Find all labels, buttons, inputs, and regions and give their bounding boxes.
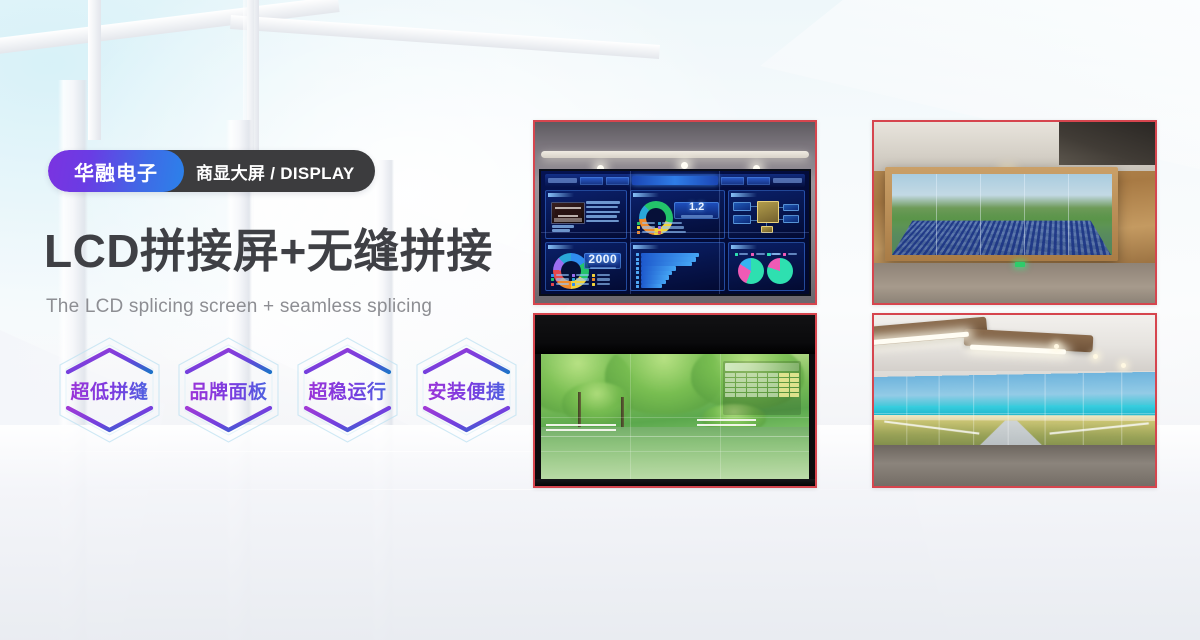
calendar-cell [790,393,800,397]
calendar-cell [758,383,768,387]
legend-item [658,226,687,229]
calendar-cell [779,373,789,377]
legend-item [751,253,765,256]
legend-item [637,222,655,225]
pond-water [541,427,810,479]
legend-item [783,253,797,256]
tree-trunk [621,397,624,429]
promo-banner: 华融电子 商显大屏 / DISPLAY LCD拼接屏+无缝拼接 The LCD … [0,0,1200,640]
flow-node [783,215,799,223]
calendar-overlay [723,361,801,416]
upper-black-bezel [535,315,815,354]
videowall-seam-vertical [1068,174,1069,255]
thumb-detail [554,218,582,222]
dashboard-nav-tab [747,177,770,185]
dashboard-header [545,174,805,187]
legend-item [735,253,749,256]
kpi-panel-count: 2000 [584,253,621,268]
card-text-line [586,215,617,218]
flow-node [783,204,799,212]
calendar-cell [768,378,778,382]
ceiling-beam-vertical-1 [88,0,101,140]
calendar-cell [725,393,735,397]
photo-dashboard-videowall: 1.2 [533,120,817,305]
calendar-cell [736,378,746,382]
videowall-seam-horizontal [541,417,810,418]
card-body: 1.2 [634,200,722,235]
floor [874,263,1155,303]
card-text-line [552,225,574,228]
legend-item [592,283,610,286]
calendar-cell [747,393,757,397]
kpi-value: 1.2 [689,202,704,213]
calendar-cell [790,388,800,392]
subheadline: The LCD splicing screen + seamless splic… [46,296,432,318]
calendar-cell [725,378,735,382]
calendar-cell [768,383,778,387]
ceiling-dark-recess [1059,122,1155,165]
card-body [549,200,622,235]
card-text-line [586,206,618,209]
calendar-cell [779,393,789,397]
dashboard-nav-tab [606,177,629,185]
photo-content: 1.2 [535,122,815,303]
calendar-cell [736,383,746,387]
legend-item [551,278,569,281]
flow-connector [751,220,756,221]
dashboard-grid: 1.2 [545,190,805,291]
legend-item [637,226,655,229]
calendar-cell [736,393,746,397]
dashboard-user-area [773,178,802,183]
flow-connector [751,206,756,207]
feature-label: 品牌面板 [189,377,267,404]
pond-railing [697,419,756,427]
legend-item [767,253,781,256]
calendar-cell [758,388,768,392]
calendar-cell [790,378,800,382]
feature-badge-3: 超稳运行 [288,332,407,448]
ceiling-spotlight [681,162,688,169]
thumb-detail [558,215,578,217]
calendar-cell [736,388,746,392]
photo-content [874,122,1155,303]
legend-item [572,274,590,277]
calendar-cell [779,378,789,382]
pie-chart-right [767,258,793,284]
feature-badge-2: 品牌面板 [169,332,288,448]
feature-list: 超低拼缝 品牌面板 超稳运行 [50,332,526,448]
water-reflection [541,451,810,452]
calendar-cell [779,383,789,387]
exit-sign [1015,262,1025,267]
legend-item [658,222,687,225]
feature-badge-1: 超低拼缝 [50,332,169,448]
dashboard-card-bars [630,242,726,291]
kpi-panel-area: 1.2 [674,202,720,219]
bar-row [636,284,720,289]
calendar-cell [758,393,768,397]
kpi-caption-bar [681,215,713,218]
chart-legend [551,274,610,286]
legend-item [572,283,590,286]
videowall-seam-vertical [936,174,937,255]
brand-badge: 华融电子 商显大屏 / DISPLAY [48,150,375,192]
legend-item [592,278,610,281]
card-body: 2000 [549,252,622,287]
dashboard-title [632,176,718,185]
calendar-cell [768,373,778,377]
calendar-cell [725,383,735,387]
photo-beach-boardwalk-videowall [872,313,1157,488]
calendar-cell [736,373,746,377]
flow-node [733,202,751,211]
dashboard-card-count: 2000 [545,242,626,291]
photo-solar-farm-videowall [872,120,1157,305]
calendar-cell [725,388,735,392]
card-text-line [586,201,620,204]
ceiling-cove-light [541,151,810,158]
calendar-cell [747,378,757,382]
ceiling-spotlight [1054,344,1059,349]
card-body [732,200,801,235]
photo-content [874,315,1155,486]
chart-legend [767,253,797,256]
calendar-cell [747,383,757,387]
kpi-value: 2000 [588,253,617,265]
calendar-cell [790,373,800,377]
legend-item [572,278,590,281]
calendar-cell [758,378,768,382]
videowall-seam-vertical [980,174,981,255]
calendar-cell [779,388,789,392]
solar-panel-array [892,220,1111,254]
background-floor-highlight-2 [60,489,960,490]
calendar-cell [747,373,757,377]
flow-connector [779,219,783,220]
feature-label: 超稳运行 [308,377,386,404]
pond-railing [546,424,616,432]
card-text-line [586,220,619,223]
card-text-line [586,211,620,214]
videowall-screen [892,174,1111,255]
calendar-cell [725,373,735,377]
kpi-caption-bar [590,267,616,268]
flow-node [733,215,751,224]
floor [874,445,1155,486]
water-reflection [541,436,810,437]
flow-node-highlight [757,201,779,223]
flow-connector [779,207,783,208]
dashboard-timestamp [548,178,577,183]
calendar-grid [725,373,799,397]
feature-label: 超低拼缝 [70,377,148,404]
brand-name-badge: 华融电子 [48,150,184,192]
headline: LCD拼接屏+无缝拼接 [44,228,493,274]
feature-label: 安装便捷 [427,377,505,404]
dashboard-nav-tab [721,177,744,185]
legend-item [551,274,569,277]
card-body [634,252,722,287]
calendar-cell [790,383,800,387]
videowall-screen [541,354,810,479]
videowall-screen [874,371,1157,453]
lower-black-bezel [535,479,815,486]
photo-content [535,315,815,486]
calendar-header [725,363,799,371]
calendar-cell [747,388,757,392]
pie-chart-left [738,258,764,284]
photo-willow-pond-videowall [533,313,817,488]
videowall-seam-horizontal [541,232,809,233]
calendar-cell [758,373,768,377]
screen-wood-frame [885,167,1118,261]
legend-item [592,274,610,277]
calendar-cell [768,393,778,397]
feature-badge-4: 安装便捷 [407,332,526,448]
dashboard-card-pies [728,242,805,291]
legend-item [551,283,569,286]
card-body [732,252,801,287]
flow-diagram [732,200,801,235]
thumb-detail [555,207,582,209]
videowall-seam-horizontal [874,412,1157,413]
videowall-seam-vertical [1024,174,1025,255]
dashboard-nav-tab [580,177,603,185]
videowall-screen: 1.2 [539,169,811,296]
calendar-cell [768,388,778,392]
flow-connector [766,223,767,226]
card-thumbnail [551,202,585,224]
